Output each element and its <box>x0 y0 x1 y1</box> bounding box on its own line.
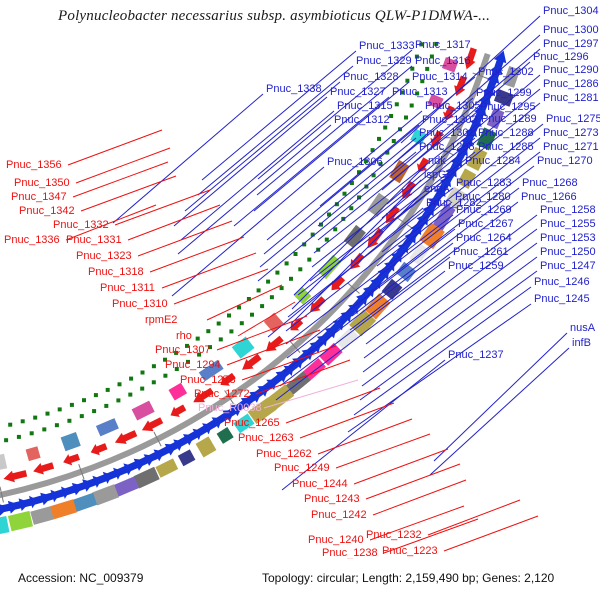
gene-label-forward[interactable]: Pnuc_1264 <box>456 233 512 244</box>
gene-label-forward[interactable]: nusA <box>570 323 595 334</box>
gene-label-reverse[interactable]: Pnuc_1223 <box>382 546 438 557</box>
gene-label-forward[interactable]: Pnuc_1295 <box>480 102 536 113</box>
leader-line-reverse <box>76 148 170 183</box>
gene-label-forward[interactable]: Pnuc_1284 <box>465 156 521 167</box>
gene-arrow-reverse[interactable] <box>91 443 108 455</box>
gene-label-reverse[interactable]: Pnuc_1332 <box>53 220 109 231</box>
rna-tick-mark <box>260 304 264 308</box>
leader-line-reverse <box>68 130 162 165</box>
gene-label-reverse[interactable]: Pnuc_1243 <box>304 494 360 505</box>
rna-tick-mark <box>46 412 50 416</box>
rna-tick-mark <box>118 382 122 386</box>
rna-tick-mark <box>8 423 12 427</box>
leader-line-reverse <box>336 434 430 468</box>
rna-tick-mark <box>58 407 62 411</box>
gene-label-forward[interactable]: Pnuc_1327 <box>330 87 386 98</box>
gene-arrow-reverse[interactable] <box>33 462 54 474</box>
gene-box-inner[interactable] <box>264 313 284 333</box>
gene-label-reverse[interactable]: Pnuc_1318 <box>88 267 144 278</box>
rna-tick-mark <box>141 371 145 375</box>
gene-label-reverse[interactable]: Pnuc_1240 <box>308 535 364 546</box>
gene-label-forward[interactable]: engA <box>424 184 450 195</box>
gene-label-forward[interactable]: Pnuc_1315 <box>337 101 393 112</box>
gene-box-inner[interactable] <box>294 287 312 305</box>
gene-label-reverse[interactable]: Pnuc_1244 <box>292 479 348 490</box>
organism-title: Polynucleobacter necessarius subsp. asym… <box>58 8 490 25</box>
leader-line-reverse <box>286 388 380 423</box>
rna-tick-mark <box>128 393 132 397</box>
gene-box-outer[interactable] <box>178 449 196 466</box>
rna-tick-mark <box>33 416 37 420</box>
gene-label-forward[interactable]: Pnuc_1253 <box>540 233 596 244</box>
rna-tick-mark <box>67 419 71 423</box>
rna-tick-mark <box>152 364 156 368</box>
rna-tick-mark <box>21 419 25 423</box>
gene-label-reverse[interactable]: Pnuc_1263 <box>238 433 294 444</box>
rna-tick-mark <box>116 398 120 402</box>
rna-tick-mark <box>94 393 98 397</box>
leader-line-reverse <box>366 464 460 499</box>
leader-line-reverse <box>444 516 538 551</box>
gene-label-forward[interactable]: Pnuc_1316 <box>415 56 471 67</box>
gene-label-forward[interactable]: Pnuc_1297 <box>543 39 599 50</box>
gene-label-forward[interactable]: Pnuc_1255 <box>540 219 596 230</box>
gene-box-outer[interactable] <box>336 327 359 350</box>
leader-line-forward <box>174 97 327 226</box>
gene-label-forward[interactable]: Pnuc_1289 <box>481 114 537 125</box>
rna-tick-mark <box>266 280 270 284</box>
gene-label-reverse[interactable]: Pnuc_1356 <box>6 160 62 171</box>
gene-label-forward[interactable]: Pnuc_1313 <box>392 87 448 98</box>
gene-label-forward[interactable]: Pnuc_1283 <box>456 178 512 189</box>
gene-label-forward[interactable]: Pnuc_1302 <box>478 67 534 78</box>
gene-label-reverse[interactable]: Pnuc_1242 <box>311 510 367 521</box>
rna-tick-mark <box>140 387 144 391</box>
rna-tick-mark <box>395 102 399 106</box>
gene-label-forward[interactable]: Pnuc_1304 <box>543 6 599 17</box>
rna-tick-mark <box>42 427 46 431</box>
gene-label-reverse[interactable]: Pnuc_1331 <box>66 235 122 246</box>
rna-tick-mark <box>196 337 200 341</box>
gene-arrow-reverse[interactable] <box>242 354 262 370</box>
rna-tick-mark <box>229 329 233 333</box>
leader-line-reverse <box>73 162 168 197</box>
gene-label-reverse[interactable]: rpmE2 <box>145 315 177 326</box>
gene-label-forward[interactable]: Pnuc_1306 <box>327 157 383 168</box>
rna-tick-mark <box>104 404 108 408</box>
gene-label-forward[interactable]: Pnuc_1273 <box>543 128 599 139</box>
gene-arrow-reverse[interactable] <box>115 430 137 444</box>
gene-label-reverse[interactable]: rho <box>176 331 192 342</box>
gene-label-forward[interactable]: Pnuc_1333 <box>359 41 415 52</box>
leader-line-reverse <box>150 237 244 272</box>
leader-line-forward <box>113 94 263 223</box>
gene-label-reverse[interactable]: Pnuc_1272 <box>194 389 250 400</box>
rna-tick-mark <box>240 321 244 325</box>
gene-label-forward[interactable]: Pnuc_1317 <box>415 40 471 51</box>
rna-tick-mark <box>389 114 393 118</box>
gene-arrow-reverse[interactable] <box>310 296 326 312</box>
gene-label-forward[interactable]: Pnuc_1247 <box>540 261 596 272</box>
gene-label-forward[interactable]: Pnuc_1285 <box>478 142 534 153</box>
gene-label-forward[interactable]: Pnuc_1237 <box>448 350 504 361</box>
gene-label-reverse[interactable]: Pnuc_1342 <box>19 206 75 217</box>
gene-label-forward[interactable]: Pnuc_1267 <box>458 219 514 230</box>
leader-line-forward <box>287 229 455 358</box>
gene-label-forward[interactable]: Pnuc_1281 <box>543 93 599 104</box>
gene-box-inner[interactable] <box>132 401 155 421</box>
rna-tick-mark <box>298 267 302 271</box>
rna-tick-mark <box>307 258 311 262</box>
rna-tick-mark <box>227 314 231 318</box>
gene-arrow-reverse[interactable] <box>171 405 187 418</box>
gene-label-forward[interactable]: Pnuc_1268 <box>522 178 578 189</box>
gene-label-forward[interactable]: Pnuc_1305 <box>425 101 481 112</box>
gene-label-forward[interactable]: Pnuc_1303 <box>422 115 478 126</box>
rna-tick-mark <box>17 435 21 439</box>
footer-divider <box>0 557 600 558</box>
rna-tick-mark <box>106 388 110 392</box>
rna-tick-mark <box>250 313 254 317</box>
gene-label-forward[interactable]: Pnuc_1266 <box>521 192 577 203</box>
leader-line-reverse <box>428 500 520 535</box>
gene-box-inner[interactable] <box>318 255 341 279</box>
gene-label-forward[interactable]: Pnuc_1314 <box>412 72 468 83</box>
gene-label-reverse[interactable]: Pnuc_1249 <box>274 463 330 474</box>
gene-label-forward[interactable]: Pnuc_1329 <box>356 56 412 67</box>
rna-tick-mark <box>294 252 298 256</box>
accession-text: Accession: NC_009379 <box>18 571 143 585</box>
gene-box-inner[interactable] <box>0 454 7 473</box>
rna-tick-mark <box>383 126 387 130</box>
rna-tick-mark <box>410 104 414 108</box>
gene-label-forward[interactable]: infB <box>572 338 591 349</box>
rna-tick-mark <box>270 295 274 299</box>
rna-tick-mark <box>80 414 84 418</box>
gene-box-outer[interactable] <box>8 511 33 531</box>
rna-tick-mark <box>92 409 96 413</box>
rna-tick-mark <box>285 261 289 265</box>
gene-label-reverse[interactable]: Pnuc_1278 <box>180 375 236 386</box>
gene-label-rna[interactable]: Pnuc_R0038 <box>198 403 262 414</box>
rna-tick-mark <box>219 337 223 341</box>
gene-box-outer[interactable] <box>0 516 10 536</box>
gene-box-inner[interactable] <box>96 418 119 436</box>
gene-box-outer[interactable] <box>217 427 234 444</box>
gene-label-forward[interactable]: Pnuc_1259 <box>448 261 504 272</box>
gene-label-forward[interactable]: Pnuc_1245 <box>534 294 590 305</box>
rna-tick-mark <box>349 206 353 210</box>
gene-label-forward[interactable]: Pnuc_1301 <box>419 128 475 139</box>
rna-tick-mark <box>280 286 284 290</box>
leader-line-forward <box>284 243 453 372</box>
leader-line-forward <box>185 82 340 211</box>
gene-label-forward[interactable]: Pnuc_1300 <box>543 25 599 36</box>
gene-label-forward[interactable]: Pnuc_1270 <box>537 156 593 167</box>
gene-label-reverse[interactable]: Pnuc_1232 <box>366 530 422 541</box>
leader-line-forward <box>348 304 531 432</box>
rna-tick-mark <box>55 423 59 427</box>
footer-bar: Accession: NC_009379 Topology: circular;… <box>0 560 600 600</box>
gene-label-forward[interactable]: Pnuc_1299 <box>476 88 532 99</box>
gene-label-forward[interactable]: Pnuc_1250 <box>540 247 596 258</box>
rna-tick-mark <box>163 374 167 378</box>
leader-line-reverse <box>354 449 448 484</box>
gene-label-forward[interactable]: Pnuc_1338 <box>266 84 322 95</box>
gene-label-forward[interactable]: Pnuc_1271 <box>543 142 599 153</box>
rna-tick-mark <box>392 139 396 143</box>
gene-label-reverse[interactable]: Pnuc_1294 <box>165 360 221 371</box>
gene-label-reverse[interactable]: Pnuc_1350 <box>14 178 70 189</box>
rna-tick-mark <box>82 398 86 402</box>
rna-tick-mark <box>152 380 156 384</box>
rna-tick-mark <box>4 438 8 442</box>
leader-line-reverse <box>162 253 256 288</box>
gene-label-forward[interactable]: Pnuc_1312 <box>334 115 390 126</box>
gene-label-forward[interactable]: ispG <box>424 170 447 181</box>
rna-tick-mark <box>217 322 221 326</box>
leader-line-reverse <box>138 221 232 256</box>
rna-tick-mark <box>70 403 74 407</box>
gene-label-forward[interactable]: Pnuc_1246 <box>534 277 590 288</box>
gene-box-outer[interactable] <box>50 499 77 519</box>
rna-tick-mark <box>129 377 133 381</box>
rna-tick-mark <box>275 271 279 275</box>
rna-tick-mark <box>30 431 34 435</box>
gene-label-reverse[interactable]: Pnuc_1336 <box>4 235 60 246</box>
gene-label-reverse[interactable]: Pnuc_1311 <box>100 283 155 294</box>
gene-arrow-reverse[interactable] <box>63 454 80 466</box>
genome-map-viewer[interactable]: Polynucleobacter necessarius subsp. asym… <box>0 0 600 600</box>
gene-label-reverse[interactable]: Pnuc_1265 <box>224 418 280 429</box>
leader-line-reverse <box>300 403 394 438</box>
rna-tick-mark <box>404 116 408 120</box>
gene-arrow-reverse[interactable] <box>142 417 163 431</box>
gene-label-reverse[interactable]: Pnuc_1323 <box>76 251 132 262</box>
rna-tick-mark <box>289 277 293 281</box>
leader-line-reverse <box>207 285 282 320</box>
gene-box-outer[interactable] <box>319 343 342 366</box>
rna-tick-mark <box>325 238 329 242</box>
gene-box-inner[interactable] <box>61 432 81 451</box>
rna-tick-mark <box>377 137 381 141</box>
leader-line-reverse <box>81 176 176 211</box>
leader-line-reverse <box>373 480 466 515</box>
gene-label-forward[interactable]: Pnuc_1288 <box>478 128 534 139</box>
rna-tick-mark <box>343 192 347 196</box>
gene-label-forward[interactable]: Pnuc_1282 <box>426 198 482 209</box>
topology-summary-text: Topology: circular; Length: 2,159,490 bp… <box>262 571 554 585</box>
gene-label-reverse[interactable]: Pnuc_1310 <box>112 299 168 310</box>
gene-box-inner[interactable] <box>26 446 41 461</box>
gene-label-reverse[interactable]: Pnuc_1262 <box>256 449 312 460</box>
gene-label-forward[interactable]: Pnuc_1328 <box>343 72 399 83</box>
leader-line-forward <box>181 111 334 240</box>
rna-tick-mark <box>257 288 261 292</box>
leader-line-forward <box>430 348 569 475</box>
gene-box-outer[interactable] <box>155 458 178 477</box>
gene-label-forward[interactable]: Pnuc_1258 <box>540 205 596 216</box>
leader-line-forward <box>178 125 331 254</box>
gene-label-forward[interactable]: Pnuc_1286 <box>543 79 599 90</box>
gene-label-reverse[interactable]: Pnuc_1307 <box>155 345 211 356</box>
gene-arrow-reverse[interactable] <box>4 470 28 482</box>
gene-label-forward[interactable]: Pnuc_1296 <box>533 52 589 63</box>
rna-tick-mark <box>206 329 210 333</box>
gene-label-reverse[interactable]: Pnuc_1347 <box>11 192 67 203</box>
gene-label-forward[interactable]: Pnuc_1275 <box>546 114 600 125</box>
gene-label-forward[interactable]: Pnuc_1298 <box>419 142 475 153</box>
gene-label-forward[interactable]: Pnuc_1261 <box>453 247 509 258</box>
gene-label-forward[interactable]: ndk <box>428 156 446 167</box>
gene-label-forward[interactable]: Pnuc_1290 <box>543 65 599 76</box>
gene-box-outer[interactable] <box>30 506 54 525</box>
leader-line-reverse <box>174 269 268 304</box>
